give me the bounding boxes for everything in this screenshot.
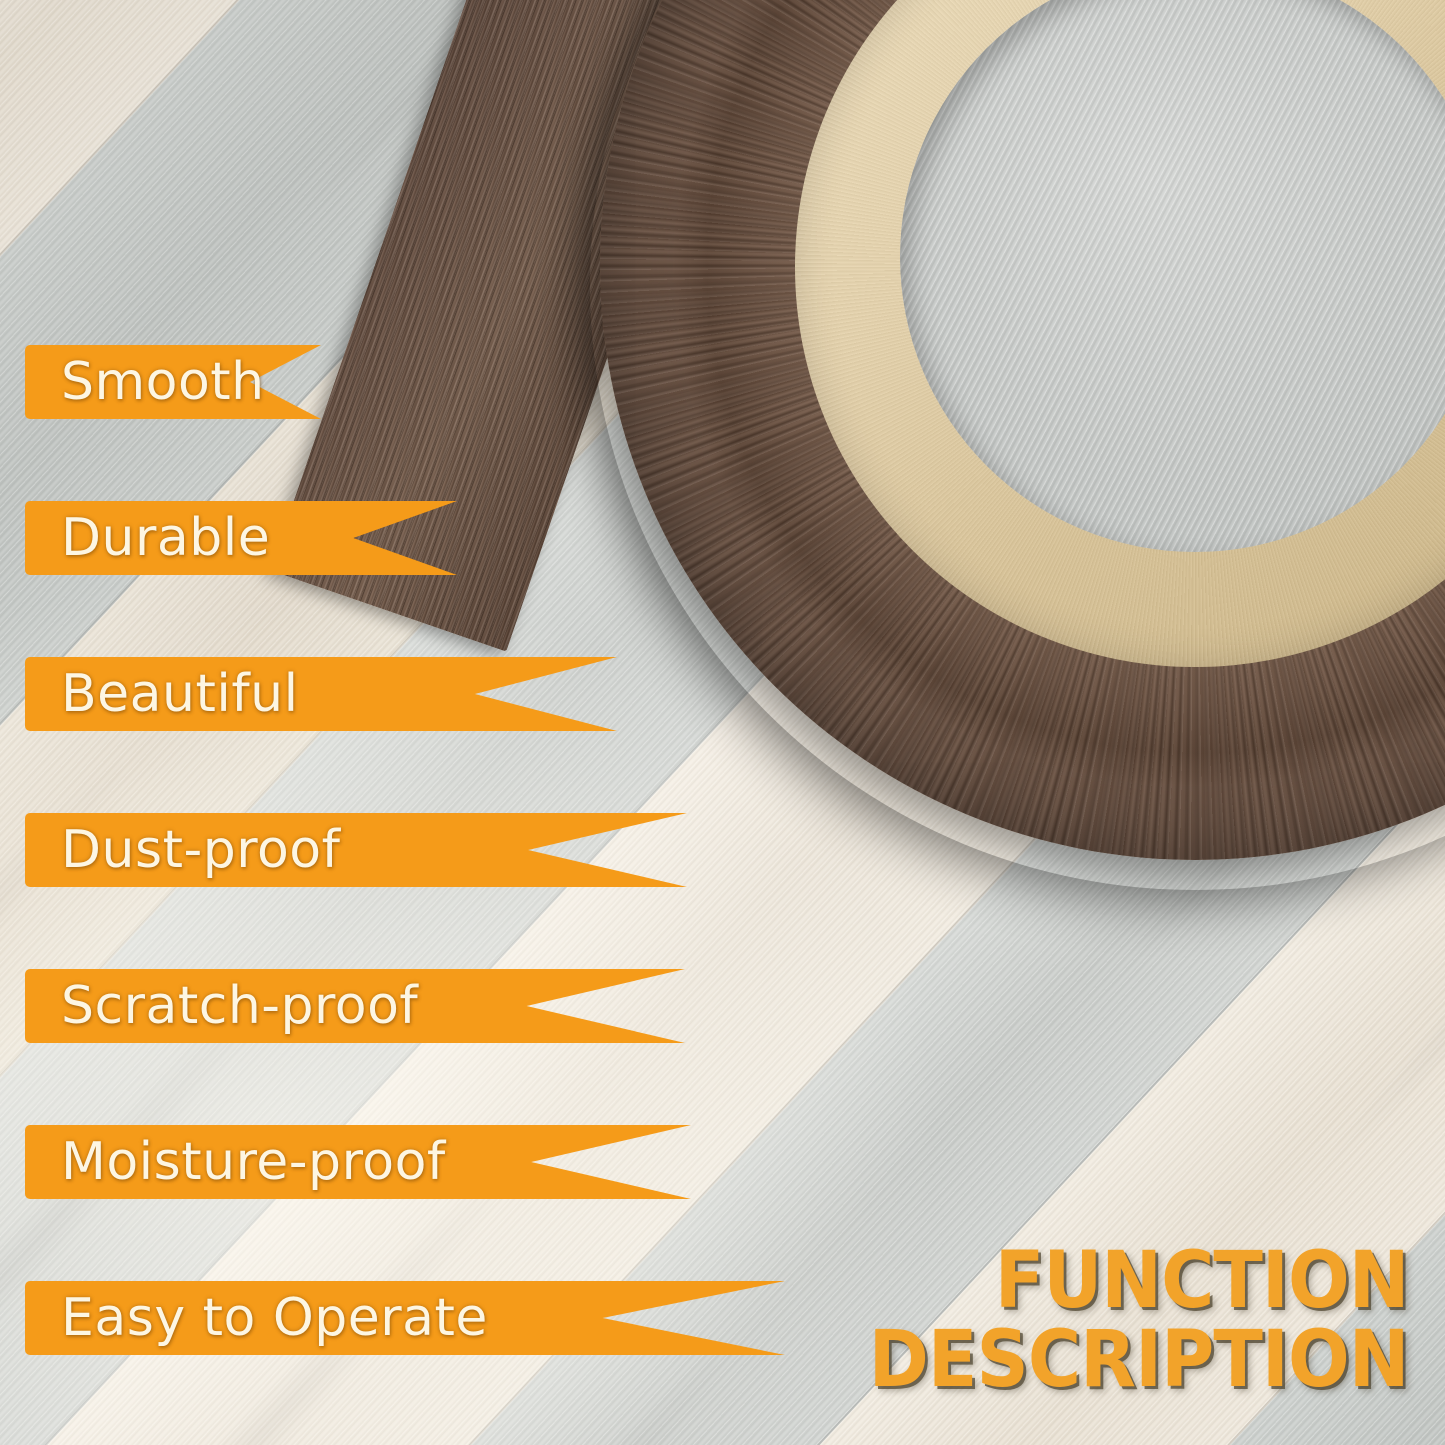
- feature-banner-label: Smooth: [61, 356, 265, 408]
- feature-banner[interactable]: Smooth: [25, 345, 321, 419]
- feature-banner[interactable]: Scratch-proof: [25, 969, 685, 1043]
- headline-line-2: DESCRIPTION: [869, 1321, 1409, 1401]
- feature-banner[interactable]: Dust-proof: [25, 813, 687, 887]
- feature-banner[interactable]: Beautiful: [25, 657, 617, 731]
- headline-line-1: FUNCTION: [995, 1236, 1409, 1326]
- feature-banner[interactable]: Moisture-proof: [25, 1125, 691, 1199]
- feature-banner-label: Durable: [61, 512, 270, 564]
- feature-banner-label: Easy to Operate: [61, 1292, 488, 1344]
- feature-banner[interactable]: Durable: [25, 501, 457, 575]
- feature-banner[interactable]: Easy to Operate: [25, 1281, 785, 1355]
- feature-banner-label: Moisture-proof: [61, 1136, 446, 1188]
- feature-banner-label: Beautiful: [61, 668, 299, 720]
- infographic-canvas: SmoothDurableBeautifulDust-proofScratch-…: [0, 0, 1445, 1445]
- feature-banner-label: Dust-proof: [61, 824, 340, 876]
- headline-function-description: FUNCTION DESCRIPTION: [869, 1242, 1409, 1401]
- feature-banner-label: Scratch-proof: [61, 980, 418, 1032]
